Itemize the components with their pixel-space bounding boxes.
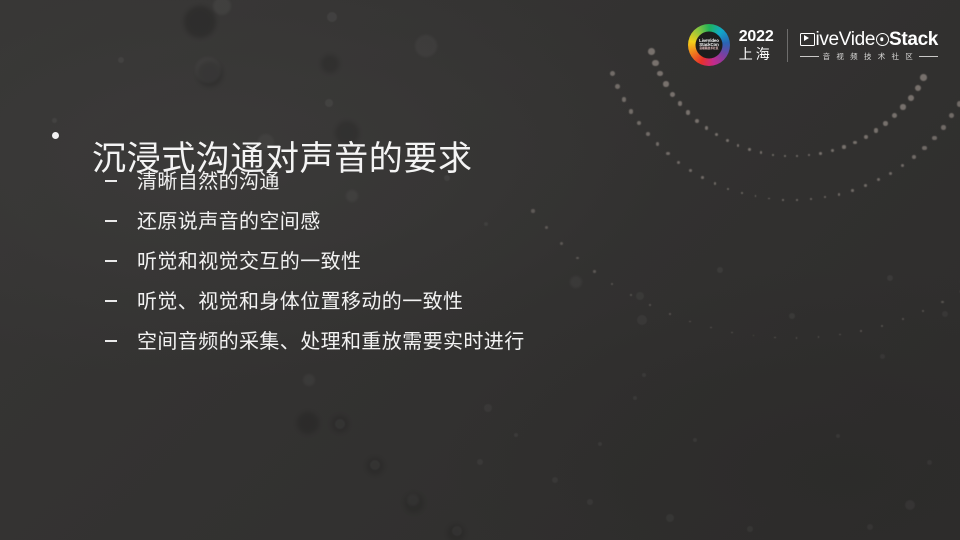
- arc-dot: [808, 154, 810, 156]
- arc-dot: [731, 332, 732, 333]
- arc-dot: [689, 321, 691, 323]
- arc-dot: [629, 109, 633, 113]
- arc-dot: [760, 151, 762, 153]
- event-year-city-block: 2022 上海: [739, 29, 774, 61]
- arc-dot: [545, 226, 548, 229]
- livevideostackcon-badge-icon: LiveVideo StackCon 音视频技术社区: [688, 24, 730, 66]
- arc-dot: [796, 337, 797, 338]
- arc-dot: [637, 121, 641, 125]
- arc-dot: [701, 176, 704, 179]
- arc-dot: [772, 154, 774, 156]
- tagline-text: 音 视 频 技 术 社 区: [819, 53, 919, 61]
- arc-dot: [819, 152, 822, 155]
- arc-dot: [864, 135, 868, 139]
- bullet-dash-icon: [105, 260, 117, 262]
- arc-dot: [741, 192, 743, 194]
- arc-dot: [949, 113, 954, 118]
- bullet-item-label: 听觉和视觉交互的一致性: [137, 252, 361, 272]
- arc-dot: [678, 101, 683, 106]
- arc-dot: [902, 318, 904, 320]
- event-city: 上海: [739, 47, 774, 61]
- bullet-item: 听觉和视觉交互的一致性: [105, 252, 525, 292]
- arc-dot: [851, 189, 854, 192]
- arc-dot: [908, 95, 914, 101]
- arc-dot: [922, 146, 926, 150]
- arc-dot: [941, 301, 944, 304]
- arc-dot: [666, 152, 669, 155]
- bullet-item: 听觉、视觉和身体位置移动的一致性: [105, 292, 525, 332]
- arc-dot: [748, 148, 750, 150]
- tagline-rule-left: [800, 56, 819, 57]
- arc-dot: [915, 85, 921, 91]
- arc-dot: [648, 48, 655, 55]
- arc-dot: [922, 310, 924, 312]
- arc-dot: [630, 294, 632, 296]
- arc-dot: [881, 325, 883, 327]
- bullet-item: 还原说声音的空间感: [105, 212, 525, 252]
- arc-dot: [531, 209, 534, 212]
- wordmark-part-2: iveVide: [816, 30, 876, 49]
- arc-dot: [901, 164, 905, 168]
- arc-dot: [652, 60, 658, 66]
- arc-dot: [611, 283, 613, 285]
- arc-dot: [796, 199, 798, 201]
- bullet-dash-icon: [105, 180, 117, 182]
- arc-dot: [753, 335, 754, 336]
- arc-dot: [889, 172, 892, 175]
- arc-dot: [670, 92, 675, 97]
- event-logo-lockup: LiveVideo StackCon 音视频技术社区 2022 上海 iveVi…: [688, 20, 938, 70]
- arc-dot: [810, 198, 812, 200]
- bullet-item: 空间音频的采集、处理和重放需要实时进行: [105, 332, 525, 372]
- title-bullet-icon: [52, 132, 59, 139]
- arc-dot: [838, 193, 840, 195]
- bullet-item-label: 还原说声音的空间感: [137, 212, 321, 232]
- arc-dot: [877, 178, 880, 181]
- play-button-icon: [800, 33, 815, 46]
- bullet-item: 清晰自然的沟通: [105, 172, 525, 212]
- brand-wordmark: iveVide Stack: [800, 30, 938, 49]
- arc-dot: [782, 199, 784, 201]
- arc-dot: [656, 142, 660, 146]
- arc-dot: [932, 136, 936, 140]
- arc-dot: [755, 195, 757, 197]
- arc-dot: [900, 104, 905, 109]
- arc-dot: [663, 81, 668, 86]
- arc-dot: [669, 313, 671, 315]
- arc-dot: [737, 144, 740, 147]
- bullet-item-label: 空间音频的采集、处理和重放需要实时进行: [137, 332, 525, 352]
- brand-block: iveVide Stack 音 视 频 技 术 社 区: [800, 30, 938, 61]
- arc-dot: [839, 334, 841, 336]
- arc-dot: [774, 337, 775, 338]
- arc-dot: [705, 126, 709, 130]
- arc-dot: [920, 74, 927, 81]
- arc-dot: [853, 141, 857, 145]
- arc-dot: [610, 71, 615, 76]
- arc-dot: [593, 270, 596, 273]
- arc-dot: [560, 242, 563, 245]
- presentation-slide: LiveVideo StackCon 音视频技术社区 2022 上海 iveVi…: [0, 0, 960, 540]
- arc-dot: [941, 125, 946, 130]
- arc-dot: [714, 182, 716, 184]
- arc-dot: [715, 133, 718, 136]
- arc-dot: [796, 155, 798, 157]
- arc-dot: [784, 155, 786, 157]
- arc-dot: [883, 121, 888, 126]
- record-dot-icon: [876, 33, 889, 46]
- arc-dot: [892, 113, 897, 118]
- arc-dot: [874, 128, 878, 132]
- badge-inner-text: LiveVideo StackCon 音视频技术社区: [696, 39, 722, 51]
- bullet-list: 清晰自然的沟通还原说声音的空间感听觉和视觉交互的一致性听觉、视觉和身体位置移动的…: [105, 172, 525, 372]
- bullet-item-label: 听觉、视觉和身体位置移动的一致性: [137, 292, 463, 312]
- bullet-item-label: 清晰自然的沟通: [137, 172, 280, 192]
- arc-dot: [710, 327, 711, 328]
- arc-dot: [860, 330, 862, 332]
- arc-dot: [677, 161, 680, 164]
- bullet-dash-icon: [105, 300, 117, 302]
- arc-dot: [689, 169, 692, 172]
- arc-dot: [576, 257, 579, 260]
- brand-tagline: 音 视 频 技 术 社 区: [800, 53, 938, 61]
- event-year: 2022: [739, 29, 774, 45]
- arc-dot: [818, 336, 819, 337]
- arc-dot: [615, 84, 620, 89]
- arc-dot: [768, 198, 770, 200]
- arc-dot: [726, 139, 729, 142]
- arc-dot: [842, 145, 845, 148]
- logo-divider: [787, 29, 788, 62]
- bullet-dash-icon: [105, 220, 117, 222]
- badge-line-3: 音视频技术社区: [695, 48, 722, 51]
- arc-dot: [695, 119, 699, 123]
- arc-dot: [864, 184, 867, 187]
- arc-dot: [727, 188, 729, 190]
- wordmark-part-3: Stack: [889, 30, 938, 49]
- arc-dot: [831, 149, 834, 152]
- arc-dot: [649, 304, 651, 306]
- arc-dot: [657, 71, 663, 77]
- arc-dot: [686, 110, 690, 114]
- arc-dot: [912, 155, 916, 159]
- arc-dot: [824, 196, 826, 198]
- tagline-rule-right: [919, 56, 938, 57]
- arc-dot: [622, 97, 627, 102]
- arc-dot: [646, 132, 650, 136]
- bullet-dash-icon: [105, 340, 117, 342]
